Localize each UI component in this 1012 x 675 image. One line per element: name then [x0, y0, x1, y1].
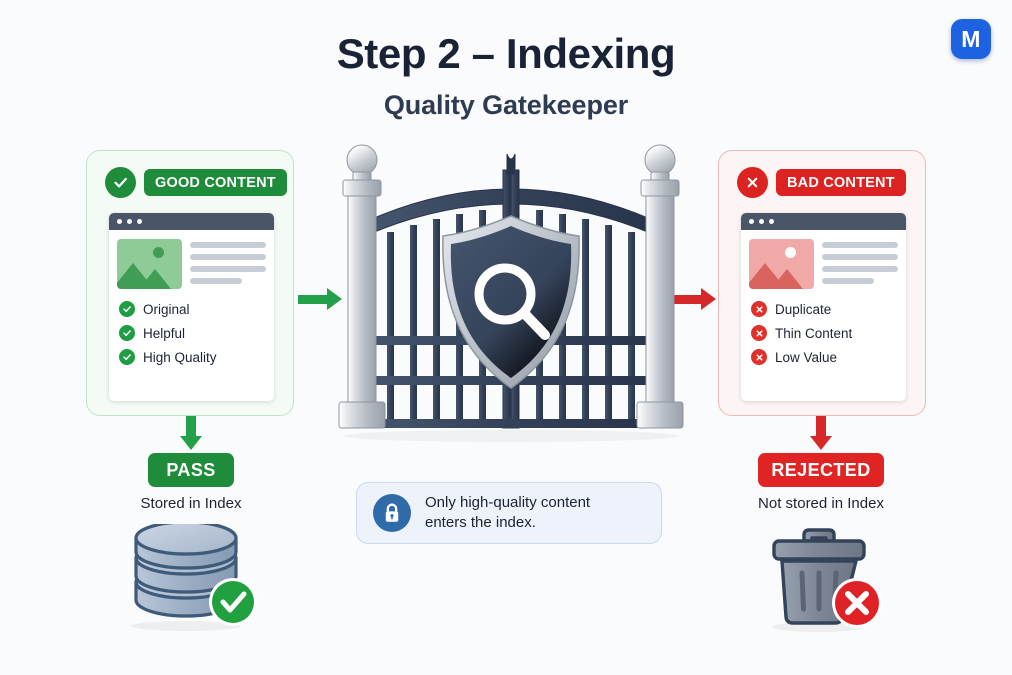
infographic-canvas: M Step 2 – Indexing Quality Gatekeeper G…: [0, 0, 1012, 675]
bad-content-panel: BAD CONTENT: [718, 150, 926, 416]
text-placeholder-lines: [822, 239, 898, 289]
window-dot-icon: [137, 219, 142, 224]
list-item-label: Original: [143, 302, 190, 317]
x-circle-icon: [737, 167, 768, 198]
window-dot-icon: [749, 219, 754, 224]
text-placeholder-lines: [190, 239, 266, 289]
arrow-down-red-icon: [814, 416, 828, 450]
page-subtitle: Quality Gatekeeper: [0, 90, 1012, 121]
list-item: Original: [119, 301, 274, 317]
good-browser-mockup: Original Helpful High Quality: [109, 213, 274, 401]
check-circle-icon: [119, 349, 135, 365]
check-circle-icon: [119, 325, 135, 341]
browser-titlebar: [109, 213, 274, 230]
good-content-badge-label: GOOD CONTENT: [144, 169, 287, 196]
gate-with-shield-icon: [325, 140, 697, 450]
list-item-label: Thin Content: [775, 326, 852, 341]
info-note-text: Only high-quality content enters the ind…: [425, 493, 590, 533]
good-checklist: Original Helpful High Quality: [109, 289, 274, 365]
window-dot-icon: [117, 219, 122, 224]
window-dot-icon: [769, 219, 774, 224]
good-content-panel: GOOD CONTENT: [86, 150, 294, 416]
list-item-label: Low Value: [775, 350, 837, 365]
bad-content-badge: BAD CONTENT: [737, 167, 906, 198]
bad-browser-mockup: Duplicate Thin Content Low Value: [741, 213, 906, 401]
arrow-down-green-icon: [184, 416, 198, 450]
list-item-label: Helpful: [143, 326, 185, 341]
list-item-label: Duplicate: [775, 302, 831, 317]
image-placeholder-icon: [749, 239, 814, 289]
check-circle-icon: [119, 301, 135, 317]
list-item: High Quality: [119, 349, 274, 365]
x-circle-icon: [751, 349, 767, 365]
browser-content: [109, 230, 274, 289]
rejected-caption: Not stored in Index: [701, 495, 941, 512]
browser-content: [741, 230, 906, 289]
pass-badge: PASS: [148, 453, 234, 487]
info-note: Only high-quality content enters the ind…: [356, 482, 662, 544]
x-circle-icon: [751, 325, 767, 341]
rejected-badge: REJECTED: [758, 453, 884, 487]
list-item: Helpful: [119, 325, 274, 341]
list-item: Thin Content: [751, 325, 906, 341]
bad-checklist: Duplicate Thin Content Low Value: [741, 289, 906, 365]
browser-titlebar: [741, 213, 906, 230]
bad-content-badge-label: BAD CONTENT: [776, 169, 906, 196]
good-content-badge: GOOD CONTENT: [105, 167, 287, 198]
image-placeholder-icon: [117, 239, 182, 289]
window-dot-icon: [759, 219, 764, 224]
info-note-line-2: enters the index.: [425, 513, 590, 533]
info-note-line-1: Only high-quality content: [425, 493, 590, 513]
page-title: Step 2 – Indexing: [0, 30, 1012, 78]
list-item: Duplicate: [751, 301, 906, 317]
x-circle-icon: [751, 301, 767, 317]
check-circle-icon: [105, 167, 136, 198]
window-dot-icon: [127, 219, 132, 224]
trash-x-icon: [760, 527, 892, 635]
list-item: Low Value: [751, 349, 906, 365]
lock-icon: [373, 494, 411, 532]
pass-caption: Stored in Index: [71, 495, 311, 512]
list-item-label: High Quality: [143, 350, 217, 365]
database-check-icon: [120, 524, 268, 634]
